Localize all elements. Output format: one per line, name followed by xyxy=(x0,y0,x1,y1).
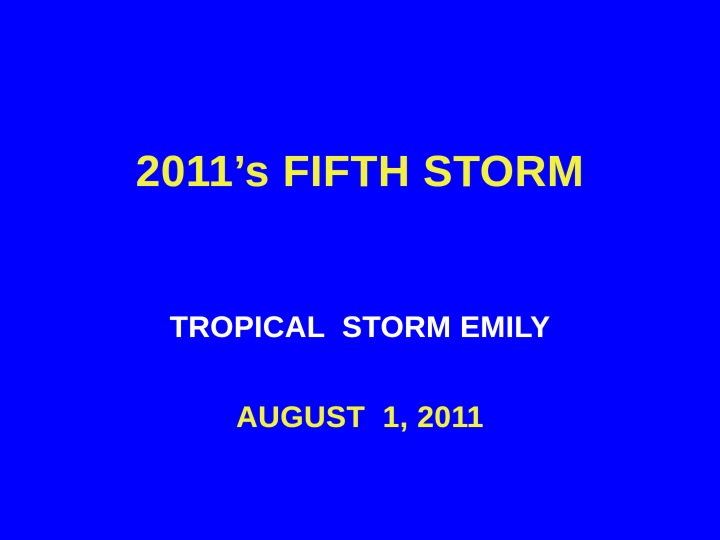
slide-title: 2011’s FIFTH STORM xyxy=(0,150,720,194)
slide-date: AUGUST 1, 2011 xyxy=(0,403,720,433)
presentation-slide: 2011’s FIFTH STORM TROPICAL STORM EMILY … xyxy=(0,0,720,540)
slide-subtitle: TROPICAL STORM EMILY xyxy=(0,313,720,343)
